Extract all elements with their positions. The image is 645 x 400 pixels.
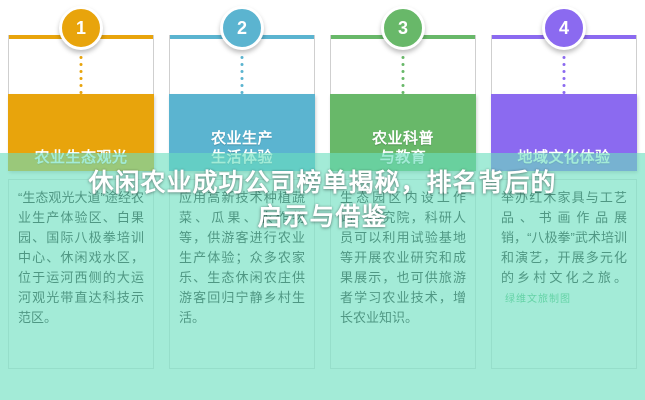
step-badge-3[interactable]: 3 <box>381 6 425 50</box>
connector-dots-1 <box>80 56 83 94</box>
step-number-4: 4 <box>559 18 569 39</box>
card-header-4[interactable]: 地域文化体验 <box>491 94 637 171</box>
card-title-line1-4: 地域文化体验 <box>517 149 610 166</box>
step-number-2: 2 <box>237 18 247 39</box>
card-title-line1-1: 农业生态观光 <box>34 149 127 166</box>
card-title-3: 农业科普 与教育 <box>372 129 434 167</box>
connector-leg-right-2 <box>314 35 315 94</box>
overlay-headline: 休闲农业成功公司榜单揭秘，排名背后的 启示与借鉴 <box>0 166 645 234</box>
connector-3: 3 <box>330 0 476 94</box>
connector-leg-left-3 <box>330 35 331 94</box>
connector-leg-right-3 <box>475 35 476 94</box>
step-badge-4[interactable]: 4 <box>542 6 586 50</box>
overlay-headline-line2: 启示与借鉴 <box>26 200 619 234</box>
connector-1: 1 <box>8 0 154 94</box>
step-badge-2[interactable]: 2 <box>220 6 264 50</box>
step-badge-1[interactable]: 1 <box>59 6 103 50</box>
card-title-4: 地域文化体验 <box>517 148 610 167</box>
card-title-line1-2: 农业生产 <box>211 130 273 147</box>
card-title-line2-3: 与教育 <box>372 148 434 167</box>
connector-leg-right-4 <box>636 35 637 94</box>
overlay-headline-line1: 休闲农业成功公司榜单揭秘，排名背后的 <box>88 169 556 197</box>
connector-leg-right-1 <box>153 35 154 94</box>
card-header-2[interactable]: 农业生产 生活体验 <box>169 94 315 171</box>
step-number-3: 3 <box>398 18 408 39</box>
connector-2: 2 <box>169 0 315 94</box>
card-title-line1-3: 农业科普 <box>372 130 434 147</box>
connector-leg-left-4 <box>491 35 492 94</box>
connector-leg-left-2 <box>169 35 170 94</box>
infographic-canvas: 1 农业生态观光 “生态观光大道”途经农业生产体验区、白果园、国际八极拳培训中心… <box>0 0 645 400</box>
connector-dots-2 <box>241 56 244 94</box>
step-number-1: 1 <box>76 18 86 39</box>
watermark-label: 绿维文旅制图 <box>505 294 571 305</box>
card-header-1[interactable]: 农业生态观光 <box>8 94 154 171</box>
connector-dots-4 <box>563 56 566 94</box>
card-title-2: 农业生产 生活体验 <box>211 129 273 167</box>
card-header-3[interactable]: 农业科普 与教育 <box>330 94 476 171</box>
card-title-line2-2: 生活体验 <box>211 148 273 167</box>
connector-4: 4 <box>491 0 637 94</box>
connector-leg-left-1 <box>8 35 9 94</box>
connector-dots-3 <box>402 56 405 94</box>
card-title-1: 农业生态观光 <box>34 148 127 167</box>
